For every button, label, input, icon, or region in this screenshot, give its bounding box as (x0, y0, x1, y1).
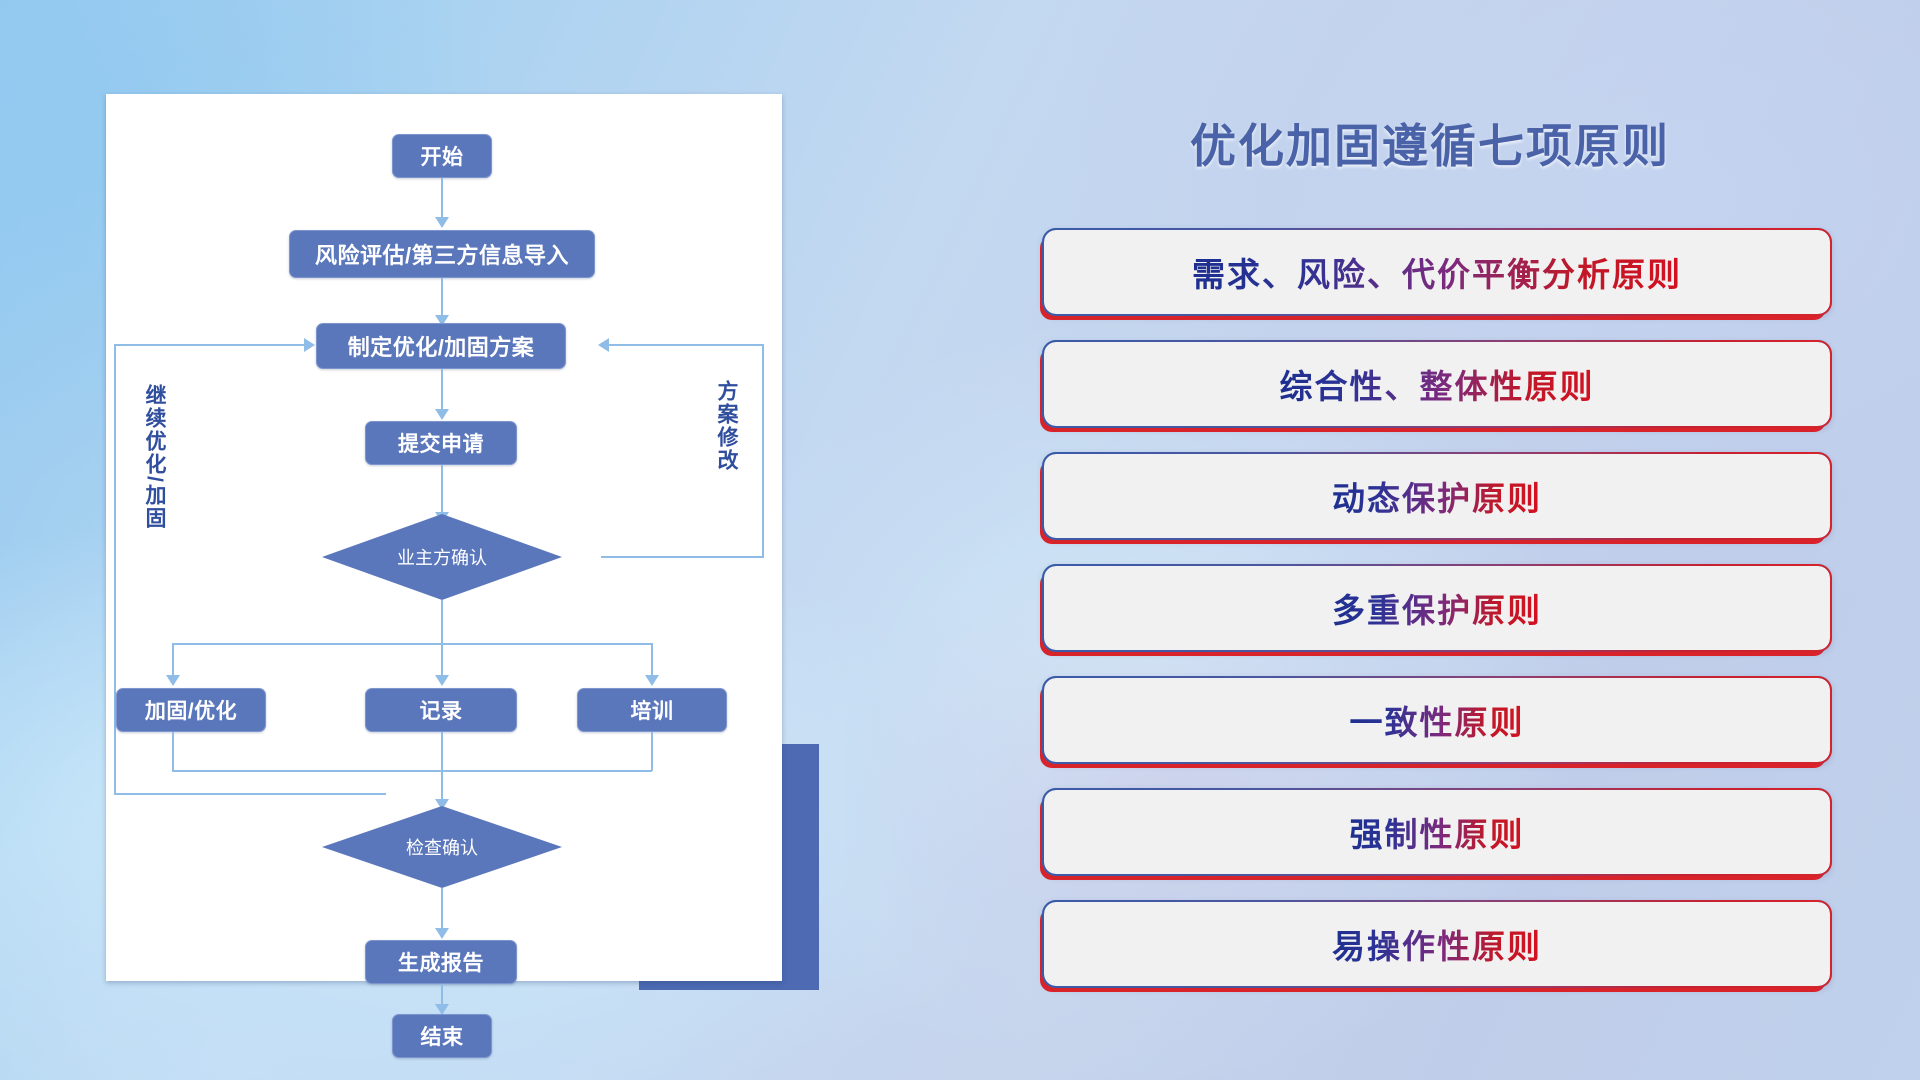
flow-node-owner-confirm-label: 业主方确认 (397, 544, 487, 570)
edge-label-right: 方案修改 (716, 380, 737, 472)
flow-node-report-label: 生成报告 (398, 947, 484, 977)
flow-node-end-label: 结束 (421, 1021, 464, 1051)
flow-node-start-label: 开始 (421, 141, 464, 171)
flow-node-submit[interactable]: 提交申请 (365, 421, 517, 465)
edge-risk-plan (441, 278, 443, 320)
merge-mid-rise (441, 732, 443, 771)
flow-node-risk-assessment-label: 风险评估/第三方信息导入 (315, 238, 569, 270)
flow-node-inspect-label: 检查确认 (406, 834, 478, 860)
split-mid-drop (441, 643, 443, 679)
panel-title: 优化加固遵循七项原则 (1020, 110, 1840, 176)
edge-start-risk-arrow (435, 217, 449, 228)
flow-node-report[interactable]: 生成报告 (365, 940, 517, 984)
edge-submit-owner (441, 465, 443, 516)
principle-item-4[interactable]: 多重保护原则 (1042, 564, 1832, 652)
edge-plan-submit (441, 369, 443, 413)
flow-node-end[interactable]: 结束 (392, 1014, 492, 1058)
flow-node-record[interactable]: 记录 (365, 688, 517, 732)
merge-bar (172, 770, 652, 772)
principle-item-2[interactable]: 综合性、整体性原则 (1042, 340, 1832, 428)
split-mid-arrow (435, 675, 449, 686)
loop-left-arrow (304, 338, 315, 352)
principle-item-1[interactable]: 需求、风险、代价平衡分析原则 (1042, 228, 1832, 316)
principle-item-3[interactable]: 动态保护原则 (1042, 452, 1832, 540)
principle-label-4: 多重保护原则 (1332, 584, 1542, 632)
split-left-arrow (166, 675, 180, 686)
flow-node-training[interactable]: 培训 (577, 688, 727, 732)
flow-node-plan-label: 制定优化/加固方案 (348, 330, 535, 362)
split-bar-top (172, 643, 652, 645)
merge-left-rise (172, 732, 174, 771)
loop-right-arrow (598, 338, 609, 352)
split-right-drop (651, 643, 653, 679)
loop-left-bottom (114, 793, 386, 795)
flow-node-owner-confirm[interactable]: 业主方确认 (322, 514, 562, 600)
principle-label-3: 动态保护原则 (1332, 472, 1542, 520)
merge-right-rise (651, 732, 653, 771)
split-left-drop (172, 643, 174, 679)
flow-node-start[interactable]: 开始 (392, 134, 492, 178)
flow-node-reinforce-label: 加固/优化 (145, 695, 237, 725)
edge-inspect-report-arrow (435, 928, 449, 939)
principle-label-1: 需求、风险、代价平衡分析原则 (1192, 248, 1682, 296)
edge-plan-submit-arrow (435, 409, 449, 420)
principle-label-5: 一致性原则 (1350, 696, 1525, 744)
flowchart: 继续优化/加固 方案修改 开始 风险评估/第三方信息导入 制定优化/加固方案 提… (106, 94, 782, 981)
principle-item-6[interactable]: 强制性原则 (1042, 788, 1832, 876)
edge-label-left: 继续优化/加固 (144, 384, 165, 530)
edge-inspect-report (441, 888, 443, 932)
loop-right-top (603, 344, 764, 346)
edge-owner-split (441, 600, 443, 644)
split-right-arrow (645, 675, 659, 686)
flow-node-reinforce[interactable]: 加固/优化 (116, 688, 266, 732)
flow-node-inspect[interactable]: 检查确认 (322, 806, 562, 888)
principle-item-7[interactable]: 易操作性原则 (1042, 900, 1832, 988)
loop-right-vertical (762, 344, 764, 557)
loop-right-bottom (601, 556, 764, 558)
flow-node-submit-label: 提交申请 (398, 428, 484, 458)
edge-start-risk (441, 178, 443, 222)
flow-node-risk-assessment[interactable]: 风险评估/第三方信息导入 (289, 230, 595, 278)
flow-node-plan[interactable]: 制定优化/加固方案 (316, 323, 566, 369)
flowchart-card: 继续优化/加固 方案修改 开始 风险评估/第三方信息导入 制定优化/加固方案 提… (106, 94, 782, 981)
principle-label-6: 强制性原则 (1350, 808, 1525, 856)
principle-label-7: 易操作性原则 (1332, 920, 1542, 968)
principle-item-5[interactable]: 一致性原则 (1042, 676, 1832, 764)
loop-left-top (114, 344, 309, 346)
principles-panel: 优化加固遵循七项原则 需求、风险、代价平衡分析原则 综合性、整体性原则 动态保护… (1020, 0, 1880, 1080)
principle-label-2: 综合性、整体性原则 (1280, 360, 1595, 408)
flow-node-record-label: 记录 (420, 695, 463, 725)
flow-node-training-label: 培训 (631, 695, 674, 725)
